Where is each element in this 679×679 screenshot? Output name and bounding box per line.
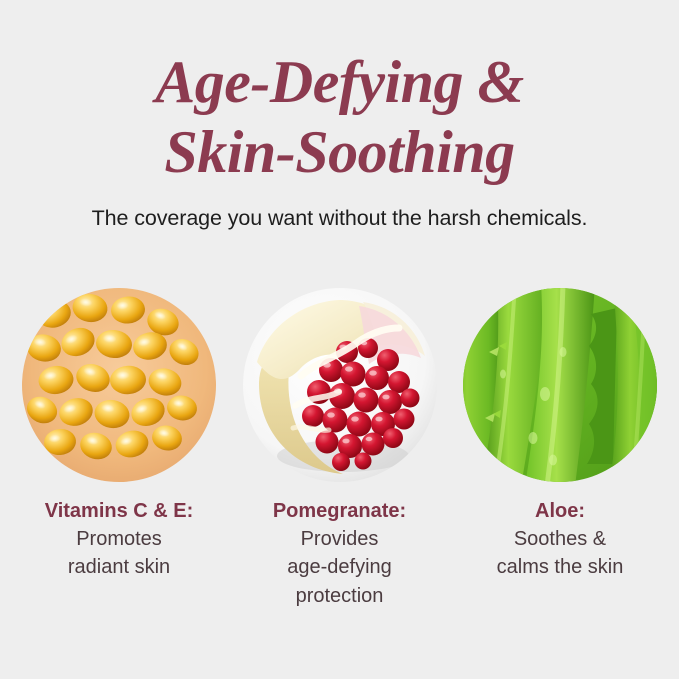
ingredient-caption: Vitamins C & E: Promotes radiant skin [4, 498, 234, 582]
subtitle: The coverage you want without the harsh … [0, 206, 679, 231]
ingredient-body-line: Promotes [4, 525, 234, 553]
pomegranate-fruit-photo [243, 288, 437, 482]
ingredient-body-line: radiant skin [4, 553, 234, 581]
headline-line-1: Age-Defying & [0, 48, 679, 118]
ingredient-caption: Pomegranate: Provides age-defying protec… [225, 498, 455, 610]
ingredient-body-line: Provides [225, 525, 455, 553]
ingredient-column-pomegranate: Pomegranate: Provides age-defying protec… [243, 288, 437, 610]
ingredient-title: Vitamins C & E: [4, 498, 234, 525]
ingredient-body: Promotes radiant skin [4, 525, 234, 582]
vitamin-softgel-capsules-photo [22, 288, 216, 482]
page-title: Age-Defying & Skin-Soothing [0, 48, 679, 187]
ingredient-title: Aloe: [445, 498, 675, 525]
aloe-vera-leaves-photo [463, 288, 657, 482]
ingredient-body: Provides age-defying protection [225, 525, 455, 610]
ingredient-body-line: Soothes & [445, 525, 675, 553]
ingredient-body: Soothes & calms the skin [445, 525, 675, 582]
ingredient-title: Pomegranate: [225, 498, 455, 525]
ingredient-column-aloe: Aloe: Soothes & calms the skin [463, 288, 657, 610]
ingredient-body-line: protection [225, 582, 455, 610]
ingredient-body-line: calms the skin [445, 553, 675, 581]
ingredient-column-vitamins: Vitamins C & E: Promotes radiant skin [22, 288, 216, 610]
ingredient-body-line: age-defying [225, 553, 455, 581]
ingredient-caption: Aloe: Soothes & calms the skin [445, 498, 675, 582]
ingredient-columns: Vitamins C & E: Promotes radiant skin [0, 288, 679, 610]
promo-graphic: Age-Defying & Skin-Soothing The coverage… [0, 0, 679, 679]
headline-line-2: Skin-Soothing [0, 118, 679, 188]
